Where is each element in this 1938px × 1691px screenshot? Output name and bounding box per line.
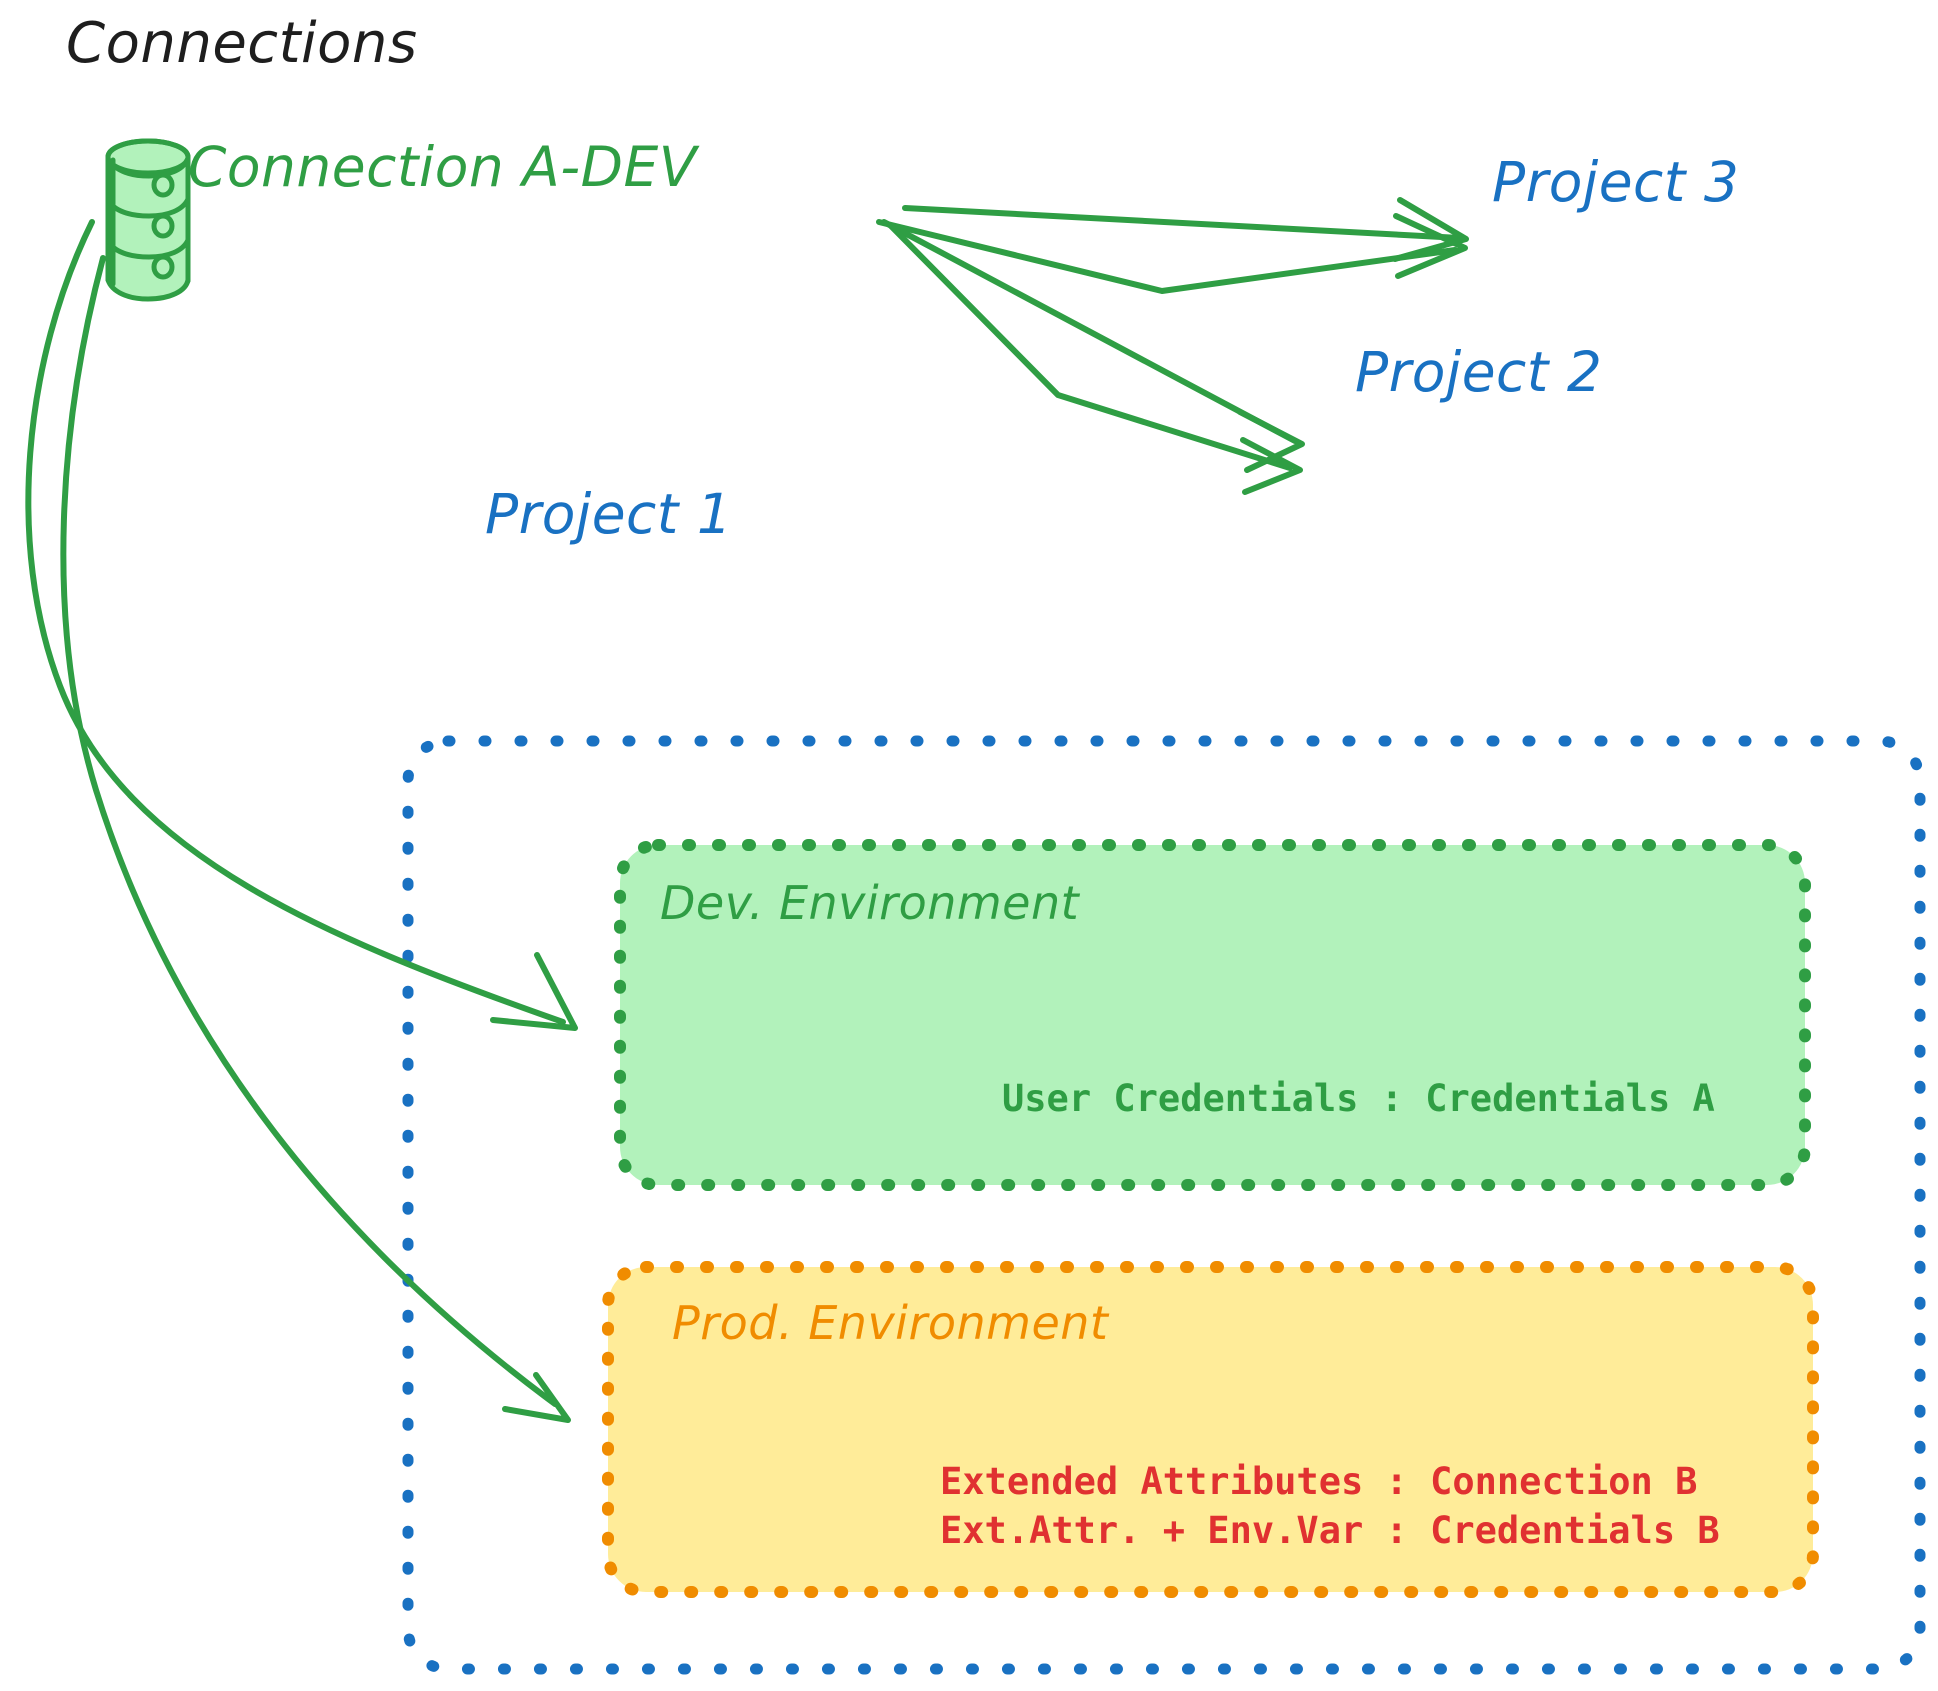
arrow-conn-to-project2-direct[interactable] xyxy=(884,222,1302,470)
prod-environment-row-extended-attributes: Extended Attributes : Connection B xyxy=(940,1463,1697,1500)
project-2-label[interactable]: Project 2 xyxy=(1355,345,1602,400)
arrow-db-to-prod-environment[interactable] xyxy=(63,258,568,1420)
database-cylinder-icon[interactable] xyxy=(108,141,188,300)
project-1-label[interactable]: Project 1 xyxy=(485,487,732,542)
prod-environment-title: Prod. Environment xyxy=(672,1300,1108,1346)
arrow-conn-to-project2-bent[interactable] xyxy=(890,225,1300,492)
diagram-canvas: Connections Connection A-DEV Project 3 P… xyxy=(0,0,1938,1691)
arrow-conn-to-project3-dipped[interactable] xyxy=(879,216,1465,291)
page-title: Connections xyxy=(66,16,418,72)
diagram-shapes-layer xyxy=(0,0,1938,1691)
project-3-label[interactable]: Project 3 xyxy=(1492,155,1739,210)
dev-environment-title: Dev. Environment xyxy=(660,880,1079,926)
prod-environment-row-ext-attr-env-var: Ext.Attr. + Env.Var : Credentials B xyxy=(940,1512,1720,1549)
connection-label[interactable]: Connection A-DEV xyxy=(188,140,697,195)
arrow-db-to-dev-environment[interactable] xyxy=(28,222,575,1028)
dev-environment-row-user-credentials: User Credentials : Credentials A xyxy=(1002,1080,1715,1117)
